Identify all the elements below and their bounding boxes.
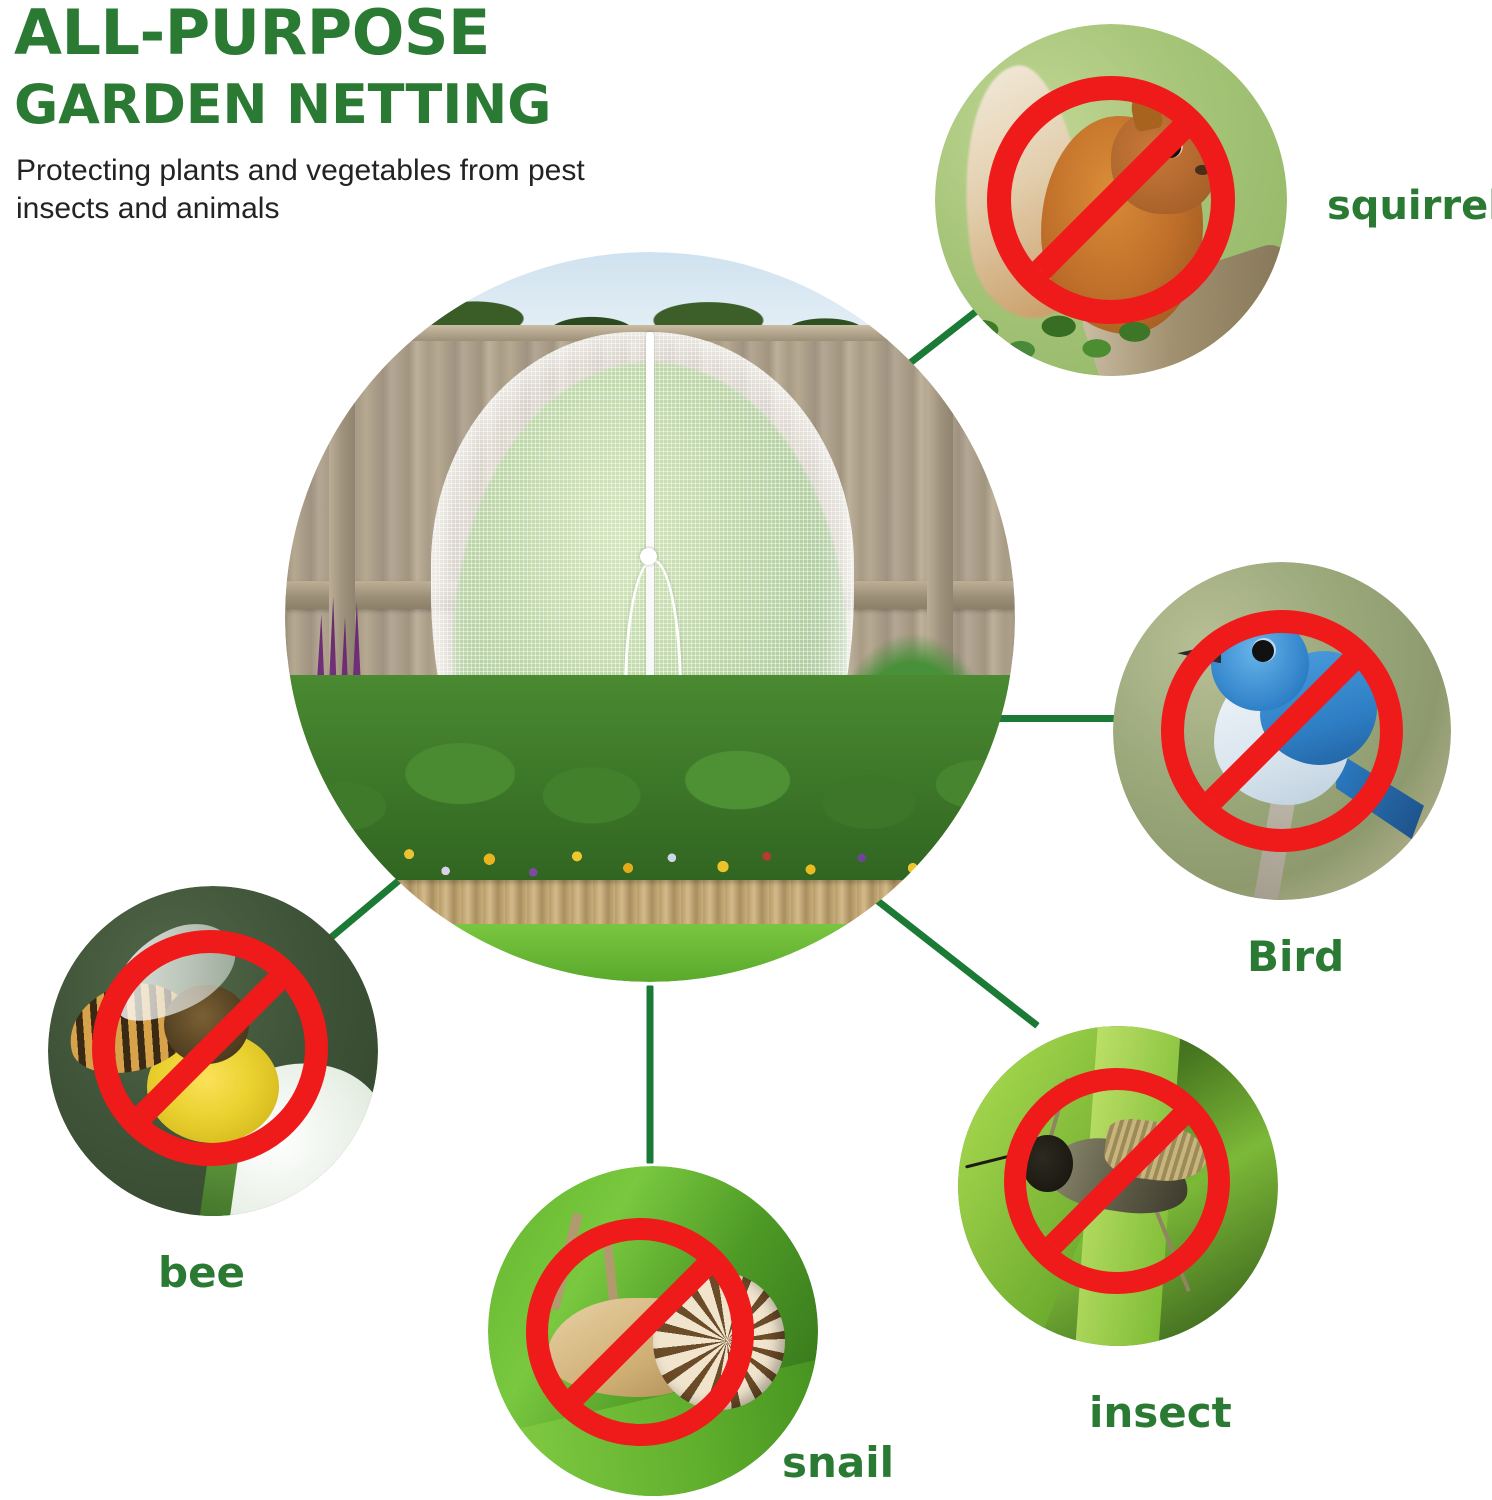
prohibition-icon: [1161, 610, 1403, 852]
pest-circle-squirrel[interactable]: [935, 24, 1287, 376]
prohibition-icon: [526, 1218, 754, 1446]
prohibition-icon: [92, 930, 328, 1166]
pest-label-insect: insect: [1089, 1388, 1232, 1437]
page-title-line1: ALL-PURPOSE: [14, 0, 654, 66]
connector-line-bird: [998, 715, 1120, 722]
garden-scene: [285, 252, 1015, 982]
pest-label-bird: Bird: [1247, 932, 1344, 981]
header-block: ALL-PURPOSE GARDEN NETTING Protecting pl…: [14, 0, 654, 228]
page-subtitle: Protecting plants and vegetables from pe…: [16, 152, 606, 228]
infographic-canvas: ALL-PURPOSE GARDEN NETTING Protecting pl…: [0, 0, 1492, 1500]
page-title-line2: GARDEN NETTING: [14, 74, 654, 136]
pest-circle-insect[interactable]: [958, 1026, 1278, 1346]
pest-label-squirrel: squirrel: [1327, 183, 1492, 229]
connector-line-snail: [647, 986, 654, 1164]
prohibition-icon: [987, 76, 1235, 324]
pansy-flowers: [285, 814, 1015, 887]
pest-circle-bird[interactable]: [1113, 562, 1451, 900]
pest-label-snail: snail: [782, 1438, 894, 1487]
center-product-photo: [285, 252, 1015, 982]
pest-label-bee: bee: [158, 1248, 245, 1297]
green-lawn: [285, 924, 1015, 982]
pest-circle-snail[interactable]: [488, 1166, 818, 1496]
pest-circle-bee[interactable]: [48, 886, 378, 1216]
prohibition-icon: [1004, 1068, 1230, 1294]
